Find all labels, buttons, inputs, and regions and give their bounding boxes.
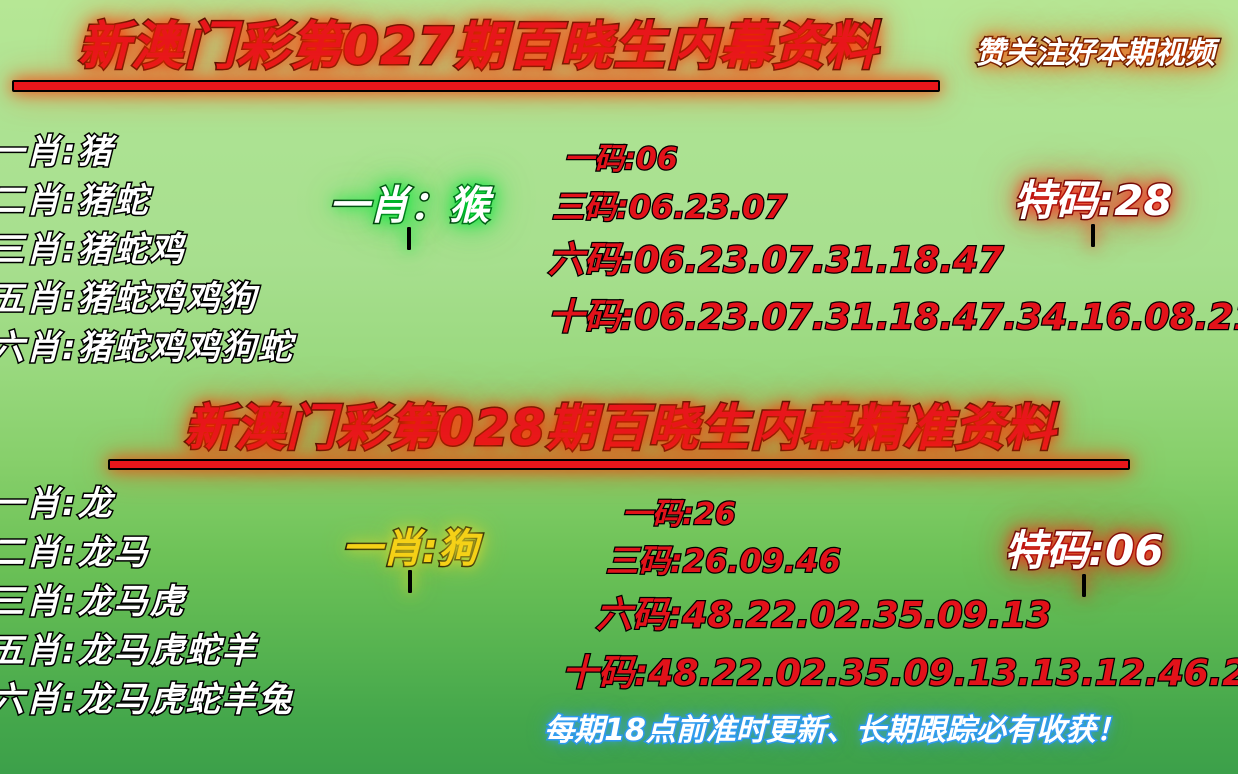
zodiac-row: 六肖:猪蛇鸡鸡狗蛇 xyxy=(0,324,410,373)
section2-title-underline xyxy=(108,459,1130,470)
section1-special-code: 特码:28 xyxy=(993,176,1193,245)
footer-notice-text: 每期18点前准时更新、长期跟踪必有收获！ xyxy=(440,712,1230,750)
section2-zodiac-list: 一肖:龙 二肖:龙马 三肖:龙马虎 五肖:龙马虎蛇羊 六肖:龙马虎蛇羊兔 xyxy=(0,480,410,725)
special-code-text: 特码:06 xyxy=(984,526,1184,576)
zodiac-row: 六肖:龙马虎蛇羊兔 xyxy=(0,676,410,725)
special-code-underline xyxy=(1082,574,1086,597)
zodiac-row: 一肖:龙 xyxy=(0,480,410,529)
section2-codes-list: 一码:26 三码:26.09.46 六码:48.22.02.35.09.13 十… xyxy=(596,493,1238,702)
special-code-underline xyxy=(1091,224,1095,247)
code-row: 十码:06.23.07.31.18.47.34.16.08.21 xyxy=(548,290,1238,346)
section1-title: 新澳门彩第027期百晓生内幕资料 xyxy=(8,18,948,76)
lottery-poster: { "section1": { "title": "新澳门彩第027期百晓生内幕… xyxy=(0,0,1238,774)
footer-notice: 每期18点前准时更新、长期跟踪必有收获！ xyxy=(440,712,1230,750)
section1-highlight-pick: 一肖：猴 xyxy=(325,183,493,248)
zodiac-row: 一肖:猪 xyxy=(0,128,410,177)
highlight-underline xyxy=(407,227,411,250)
code-row: 十码:48.22.02.35.09.13.13.12.46.26.03 xyxy=(562,646,1238,702)
code-row: 六码:48.22.02.35.09.13 xyxy=(596,586,1238,646)
section1-zodiac-list: 一肖:猪 二肖:猪蛇 三肖:猪蛇鸡 五肖:猪蛇鸡鸡狗 六肖:猪蛇鸡鸡狗蛇 xyxy=(0,128,410,373)
section2-title: 新澳门彩第028期百晓生内幕精准资料 xyxy=(100,400,1140,456)
special-code-text: 特码:28 xyxy=(993,176,1193,226)
section1-title-underline xyxy=(12,80,940,92)
highlight-text: 一肖:狗 xyxy=(330,526,490,572)
promo-text: 赞关注好本期视频 xyxy=(975,36,1238,72)
highlight-underline xyxy=(408,570,412,593)
zodiac-row: 五肖:龙马虎蛇羊 xyxy=(0,627,410,676)
zodiac-row: 五肖:猪蛇鸡鸡狗 xyxy=(0,275,410,324)
section2-special-code: 特码:06 xyxy=(984,526,1184,595)
highlight-text: 一肖：猴 xyxy=(325,183,493,229)
section2-highlight-pick: 一肖:狗 xyxy=(330,526,490,591)
